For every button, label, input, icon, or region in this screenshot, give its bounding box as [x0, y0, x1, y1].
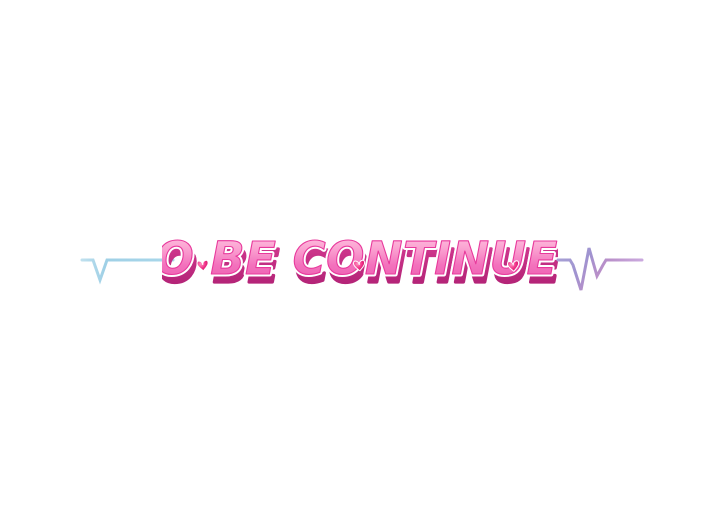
to-be-continued-card: TO BE CONTINUED TO BE CONTINUED TO BE CO… — [0, 0, 720, 529]
title-artwork: TO BE CONTINUED TO BE CONTINUED TO BE CO… — [162, 232, 558, 294]
title-main-text: TO BE CONTINUED — [162, 232, 558, 285]
right-line-path — [558, 248, 642, 290]
right-heartbeat-pulse — [556, 238, 644, 294]
